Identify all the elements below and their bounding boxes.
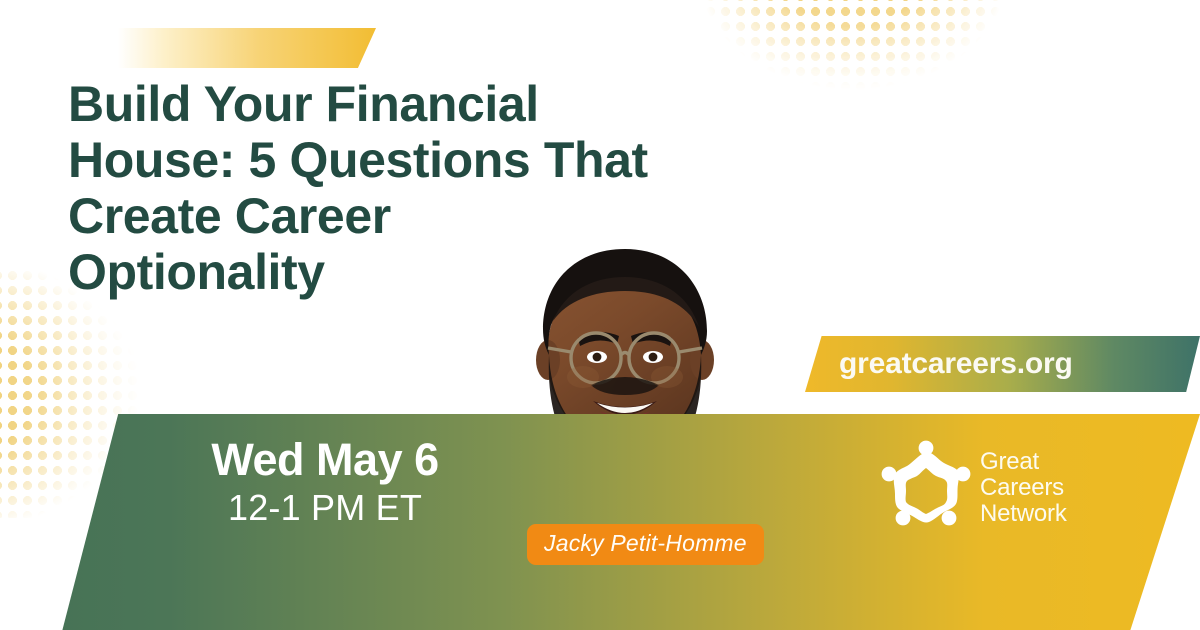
great-careers-network-star-icon — [876, 438, 976, 538]
brand-logo-wordmark: Great Careers Network — [980, 449, 1067, 527]
halftone-dots-top-right-icon — [688, 0, 1018, 124]
website-url-text: greatcareers.org — [839, 347, 1073, 381]
speaker-name: Jacky Petit-Homme — [544, 530, 747, 556]
event-datetime: Wed May 6 12-1 PM ET — [175, 436, 475, 529]
brand-logo-line-3: Network — [980, 501, 1067, 527]
brand-logo-line-2: Careers — [980, 475, 1067, 501]
speaker-name-badge: Jacky Petit-Homme — [527, 524, 764, 565]
gold-accent-bar — [118, 28, 376, 68]
brand-logo-line-1: Great — [980, 449, 1067, 475]
brand-logo[interactable]: Great Careers Network — [876, 436, 1084, 540]
website-url-banner[interactable]: greatcareers.org — [805, 336, 1200, 392]
promo-graphic: Build Your Financial House: 5 Questions … — [0, 0, 1200, 630]
event-time: 12-1 PM ET — [175, 487, 475, 529]
event-date: Wed May 6 — [175, 436, 475, 483]
